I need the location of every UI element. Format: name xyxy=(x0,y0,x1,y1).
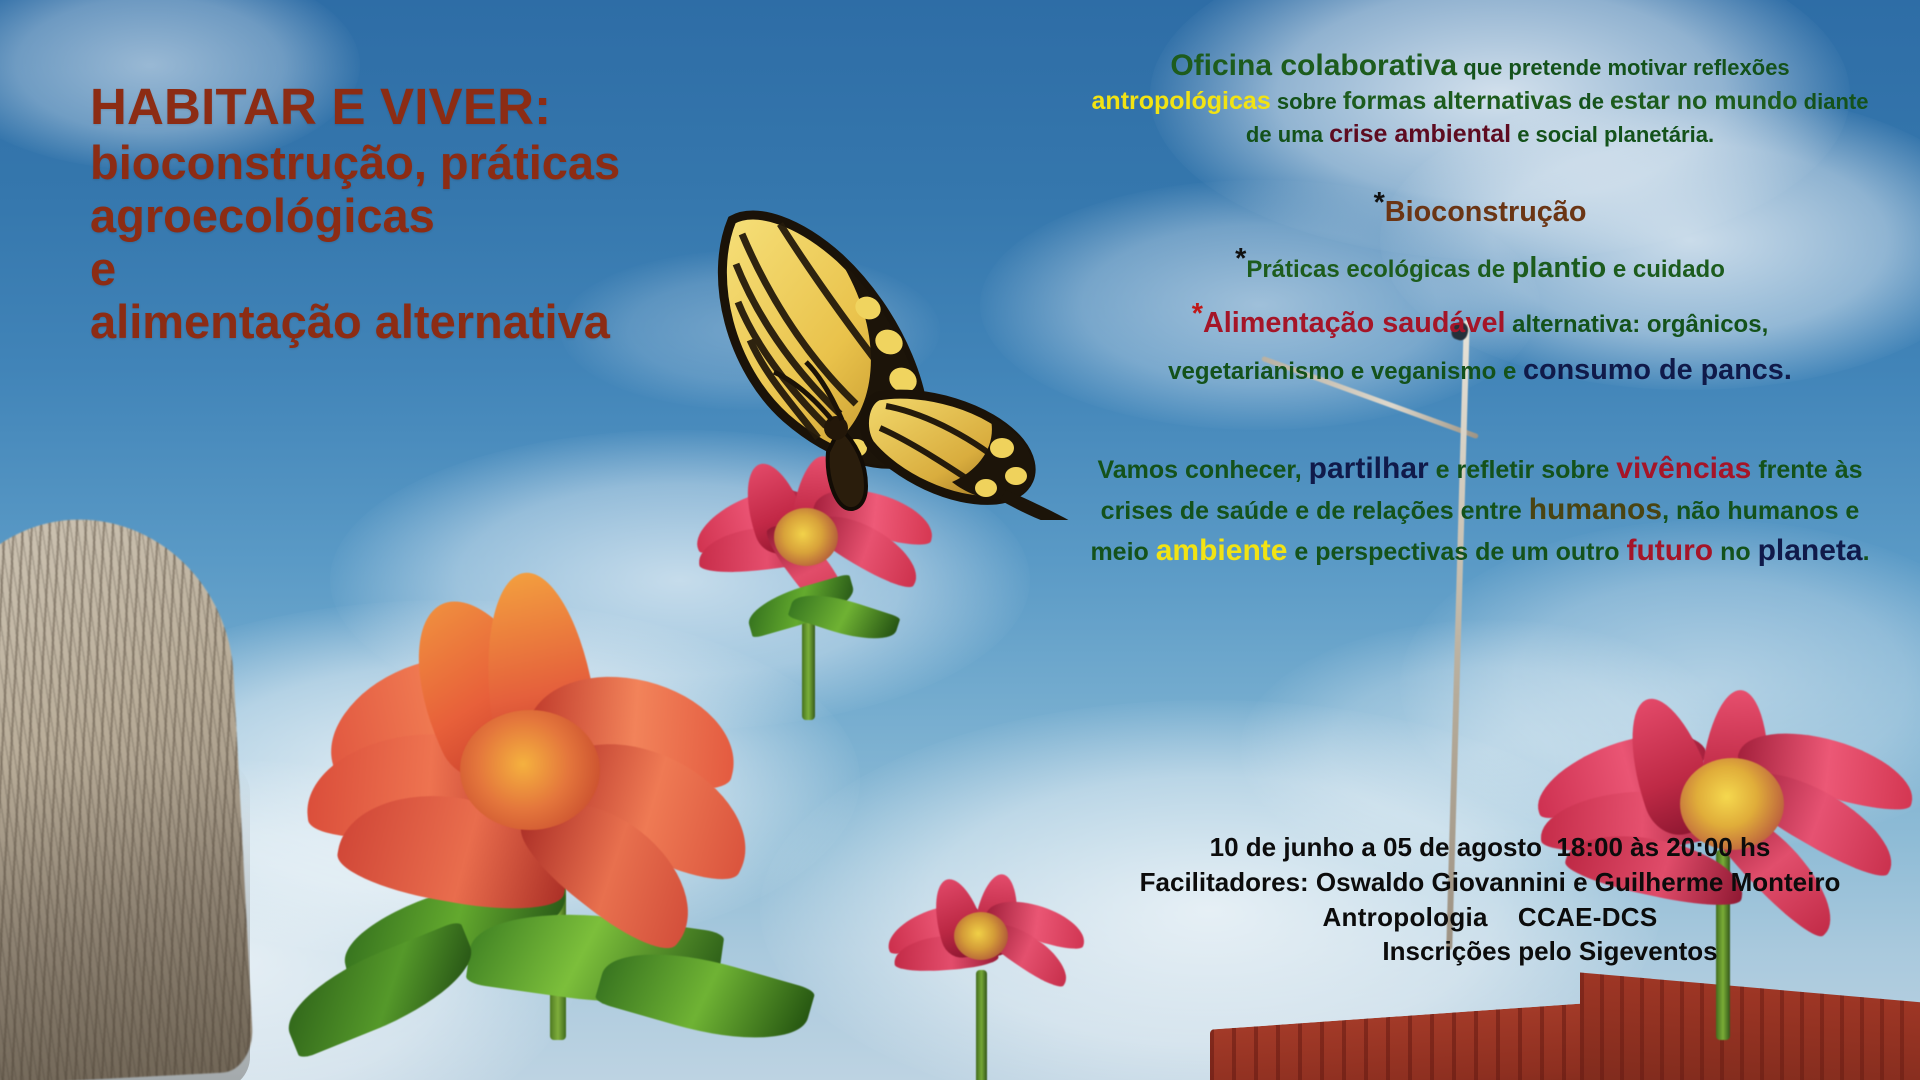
reflect-seg-10: e perspectivas de um outro xyxy=(1287,538,1626,566)
topic-item-2: *Práticas ecológicas de plantio e cuidad… xyxy=(1080,236,1880,292)
title-line-3: agroecológicas xyxy=(90,189,830,242)
topic-3-label-c: vegetarianismo e veganismo e xyxy=(1168,358,1523,385)
title-line-1: HABITAR E VIVER: xyxy=(90,78,830,136)
title-line-4: e xyxy=(90,242,830,295)
title-line-2: bioconstrução, práticas xyxy=(90,136,830,189)
topic-3-label-a: Alimentação saudável xyxy=(1203,307,1506,339)
topic-item-3: *Alimentação saudável alternativa: orgân… xyxy=(1080,291,1880,347)
reflect-line-1: Vamos conhecer, partilhar e refletir sob… xyxy=(1097,456,1758,484)
reflect-seg-3: e refletir sobre xyxy=(1429,456,1617,484)
reflection-paragraph: Vamos conhecer, partilhar e refletir sob… xyxy=(1080,448,1880,572)
asterisk-icon: * xyxy=(1374,187,1385,219)
topics-list: *Bioconstrução *Práticas ecológicas de p… xyxy=(1080,180,1880,394)
poster-canvas: HABITAR E VIVER: bioconstrução, práticas… xyxy=(0,0,1920,1080)
description-column: Oficina colaborativa que pretende motiva… xyxy=(1080,46,1880,572)
reflect-seg-6: humanos xyxy=(1529,493,1662,526)
title-line-5: alimentação alternativa xyxy=(90,295,830,348)
reflect-line-4: meio ambiente e perspectivas de um outro… xyxy=(1090,538,1720,566)
topic-3-label-d: consumo de pancs. xyxy=(1523,354,1792,386)
intro-seg-1: Oficina colaborativa xyxy=(1170,49,1457,82)
topic-item-1: *Bioconstrução xyxy=(1080,180,1880,236)
intro-seg-6: formas alternativas xyxy=(1343,87,1572,115)
topic-1-label: Bioconstrução xyxy=(1385,196,1587,228)
event-date-time: 10 de junho a 05 de agosto 18:00 às 20:0… xyxy=(1080,830,1900,865)
reflect-seg-12: no xyxy=(1720,538,1758,566)
intro-seg-5: sobre xyxy=(1271,89,1343,114)
reflect-line-3: humanos, não humanos e xyxy=(1529,497,1860,525)
topic-item-3-cont: vegetarianismo e veganismo e consumo de … xyxy=(1080,347,1880,394)
intro-seg-11: e social planetária. xyxy=(1511,122,1714,147)
intro-seg-7: de xyxy=(1572,89,1610,114)
event-registration: Inscrições pelo Sigeventos xyxy=(1200,934,1900,969)
reflect-seg-7: , não humanos e xyxy=(1662,497,1859,525)
page-title: HABITAR E VIVER: bioconstrução, práticas… xyxy=(90,78,830,348)
reflect-seg-1: Vamos conhecer, xyxy=(1097,456,1308,484)
text-layer: HABITAR E VIVER: bioconstrução, práticas… xyxy=(0,0,1920,1080)
asterisk-icon: * xyxy=(1235,243,1246,275)
intro-seg-3: reflexões xyxy=(1693,55,1790,80)
asterisk-icon: * xyxy=(1192,298,1203,330)
reflect-seg-14: . xyxy=(1863,538,1870,566)
topic-2-label-b: plantio xyxy=(1512,252,1606,284)
intro-seg-4: antropológicas xyxy=(1092,87,1271,115)
intro-paragraph: Oficina colaborativa que pretende motiva… xyxy=(1080,46,1880,150)
intro-seg-2: que pretende motivar xyxy=(1457,55,1693,80)
topic-3-label-b: alternativa: orgânicos, xyxy=(1505,311,1768,338)
reflect-seg-11: futuro xyxy=(1626,534,1713,567)
reflect-seg-9: ambiente xyxy=(1156,534,1288,567)
topic-2-label-a: Práticas ecológicas de xyxy=(1246,256,1511,283)
reflect-seg-2: partilhar xyxy=(1309,452,1429,485)
reflect-seg-13: planeta xyxy=(1758,534,1863,567)
reflect-seg-4: vivências xyxy=(1616,452,1751,485)
event-department: Antropologia CCAE-DCS xyxy=(1080,900,1900,935)
reflect-line-5: no planeta. xyxy=(1720,538,1869,566)
topic-2-label-c: e cuidado xyxy=(1606,256,1725,283)
event-facilitators: Facilitadores: Oswaldo Giovannini e Guil… xyxy=(1080,865,1900,900)
intro-seg-10: crise ambiental xyxy=(1329,120,1511,148)
reflect-seg-8: meio xyxy=(1090,538,1155,566)
event-details: 10 de junho a 05 de agosto 18:00 às 20:0… xyxy=(1080,830,1900,969)
intro-seg-8: estar no mundo xyxy=(1610,87,1798,115)
